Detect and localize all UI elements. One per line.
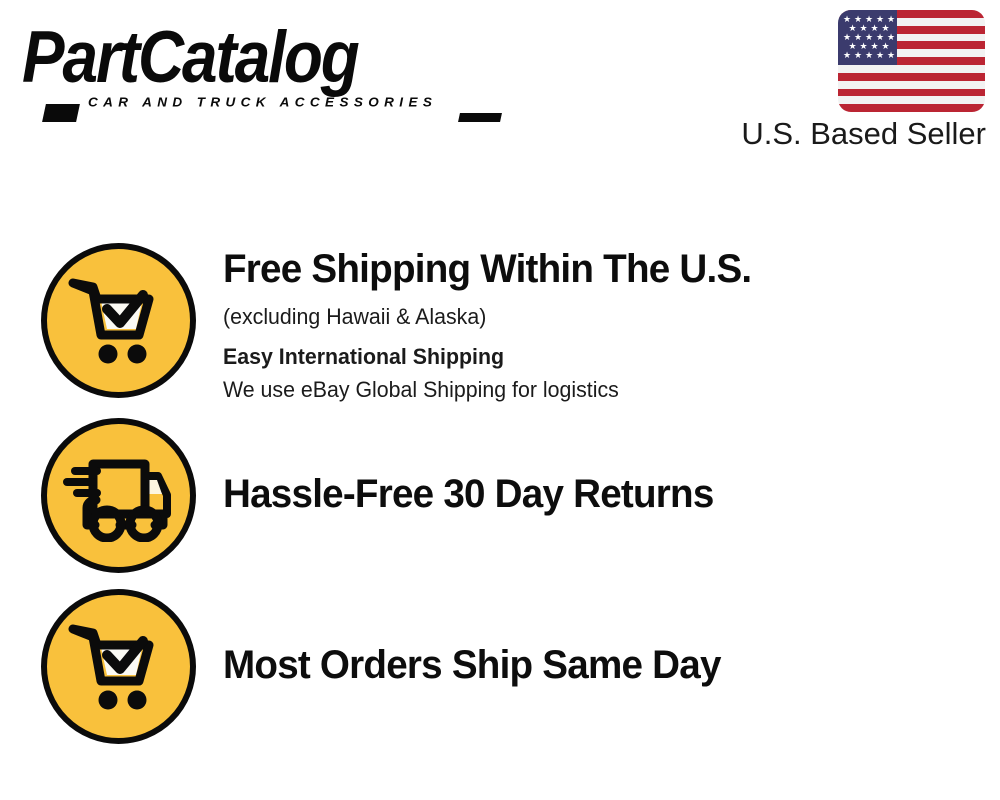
us-flag: ★ ★ ★ ★ ★ ★ ★ ★ ★ ★ ★ ★ ★ ★ ★ ★ ★ ★ ★ ★: [838, 10, 985, 112]
shopping-cart-check-glyph: [67, 619, 171, 715]
feature-heading: Free Shipping Within The U.S.: [223, 247, 937, 291]
feature-subtext: We use eBay Global Shipping for logistic…: [223, 376, 941, 404]
feature-list: Free Shipping Within The U.S. (excluding…: [0, 175, 1000, 800]
us-based-seller-label: U.S. Based Seller: [741, 116, 986, 152]
feature-subheading: Easy International Shipping: [223, 343, 941, 371]
feature-text-block: Free Shipping Within The U.S. (excluding…: [223, 247, 963, 404]
flag-canton: ★ ★ ★ ★ ★ ★ ★ ★ ★ ★ ★ ★ ★ ★ ★ ★ ★ ★ ★ ★: [838, 10, 897, 65]
delivery-truck-icon: [41, 418, 196, 573]
shopping-cart-check-icon: [41, 243, 196, 398]
delivery-truck-glyph: [63, 450, 175, 542]
banner-header: PartCatalog CAR AND TRUCK ACCESSORIES ★ …: [0, 0, 1000, 175]
logo-right-accent-bar: [458, 113, 502, 122]
brand-tagline: CAR AND TRUCK ACCESSORIES: [88, 95, 437, 109]
brand-logo: PartCatalog CAR AND TRUCK ACCESSORIES: [22, 22, 492, 112]
logo-left-accent-bar: [42, 104, 80, 122]
flag-graphic: ★ ★ ★ ★ ★ ★ ★ ★ ★ ★ ★ ★ ★ ★ ★ ★ ★ ★ ★ ★: [838, 10, 985, 112]
feature-text-block: Most Orders Ship Same Day: [223, 643, 963, 687]
feature-text-block: Hassle-Free 30 Day Returns: [223, 472, 963, 516]
feature-heading: Hassle-Free 30 Day Returns: [223, 472, 937, 516]
feature-heading: Most Orders Ship Same Day: [223, 643, 937, 687]
brand-wordmark: PartCatalog: [22, 22, 358, 95]
feature-note: (excluding Hawaii & Alaska): [223, 303, 941, 331]
shopping-cart-check-glyph: [67, 273, 171, 369]
shopping-cart-check-icon: [41, 589, 196, 744]
